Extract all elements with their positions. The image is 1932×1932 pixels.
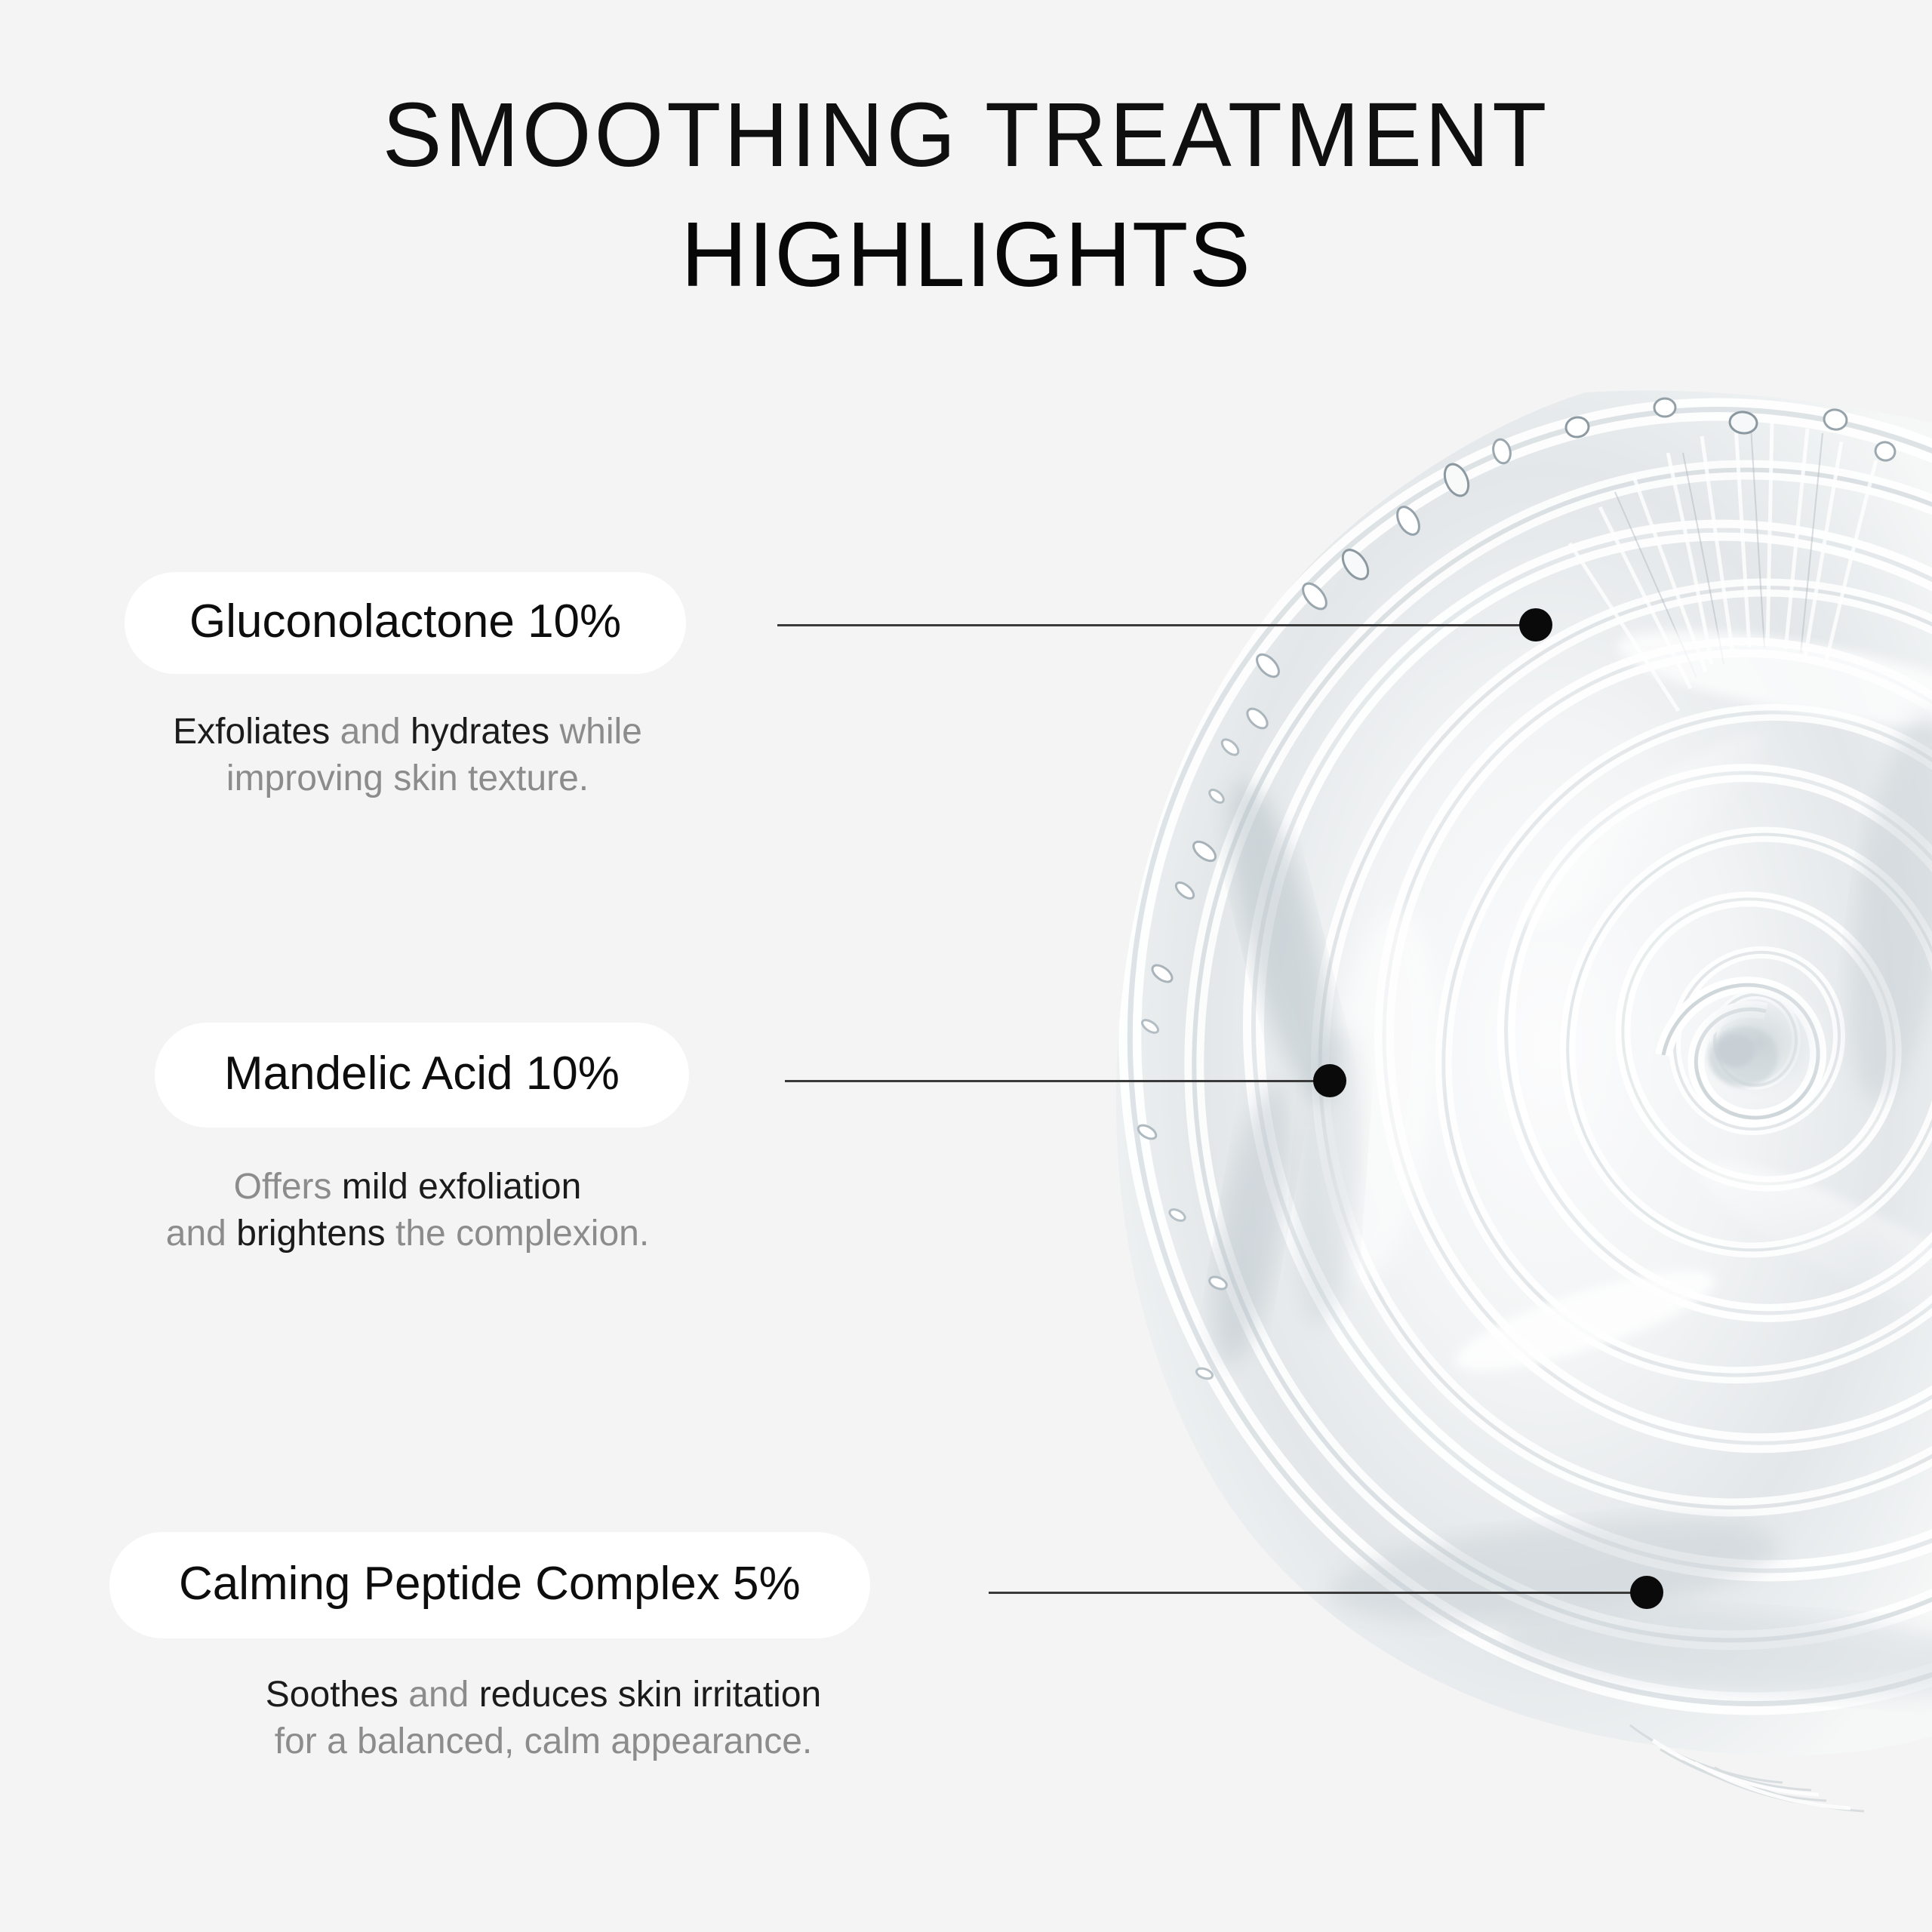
callout-pill-3[interactable]: Calming Peptide Complex 5%	[109, 1532, 870, 1638]
leader-dot-2	[1313, 1064, 1346, 1097]
callout-pill-1[interactable]: Gluconolactone 10%	[125, 572, 686, 674]
leader-dot-3	[1630, 1576, 1663, 1609]
title-line-primary: SMOOTHING TREATMENT	[0, 90, 1932, 180]
callout-description-3: Soothes and reduces skin irritation for …	[102, 1672, 985, 1766]
callout-description-1: Exfoliates and hydrates while improving …	[98, 709, 717, 803]
callout-label-2: Mandelic Acid 10%	[224, 1047, 620, 1100]
callout-calming-peptide-complex: Calming Peptide Complex 5% Soothes and r…	[109, 1532, 985, 1766]
callout-label-1: Gluconolactone 10%	[189, 595, 621, 648]
callout-description-2: Offers mild exfoliation and brightens th…	[75, 1164, 740, 1258]
infographic-canvas: SMOOTHING TREATMENT HIGHLIGHTS Gluconola…	[0, 0, 1932, 1932]
leader-line-1	[777, 624, 1538, 626]
leader-line-2	[785, 1080, 1334, 1082]
leader-line-3	[989, 1592, 1650, 1594]
leader-dot-1	[1519, 608, 1552, 641]
callout-gluconolactone: Gluconolactone 10% Exfoliates and hydrat…	[125, 572, 717, 803]
callout-pill-2[interactable]: Mandelic Acid 10%	[155, 1023, 689, 1128]
page-title: SMOOTHING TREATMENT HIGHLIGHTS	[0, 91, 1932, 300]
title-line-secondary: HIGHLIGHTS	[0, 208, 1932, 300]
callout-label-3: Calming Peptide Complex 5%	[179, 1557, 801, 1611]
callout-mandelic-acid: Mandelic Acid 10% Offers mild exfoliatio…	[155, 1023, 740, 1258]
